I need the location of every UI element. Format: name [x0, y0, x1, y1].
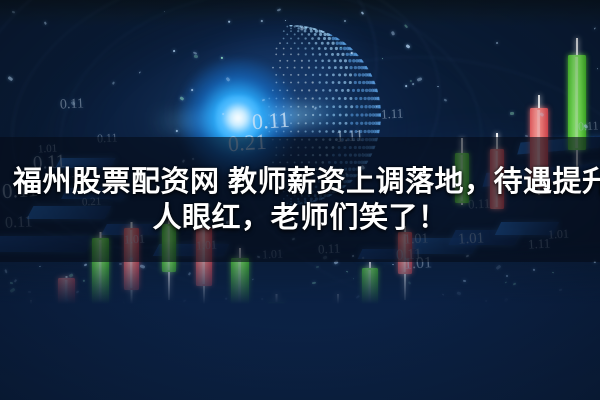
headline-block: 福州股票配资网 教师薪资上调落地，待遇提升令 人眼红，老师们笑了！	[0, 137, 600, 262]
headline-line-1: 福州股票配资网 教师薪资上调落地，待遇提升令	[13, 165, 600, 199]
stock-news-banner: 0.110.110.111.011.010.110.211.010.110.11…	[0, 0, 600, 400]
headline-line-2: 人眼红，老师们笑了！	[152, 201, 447, 235]
